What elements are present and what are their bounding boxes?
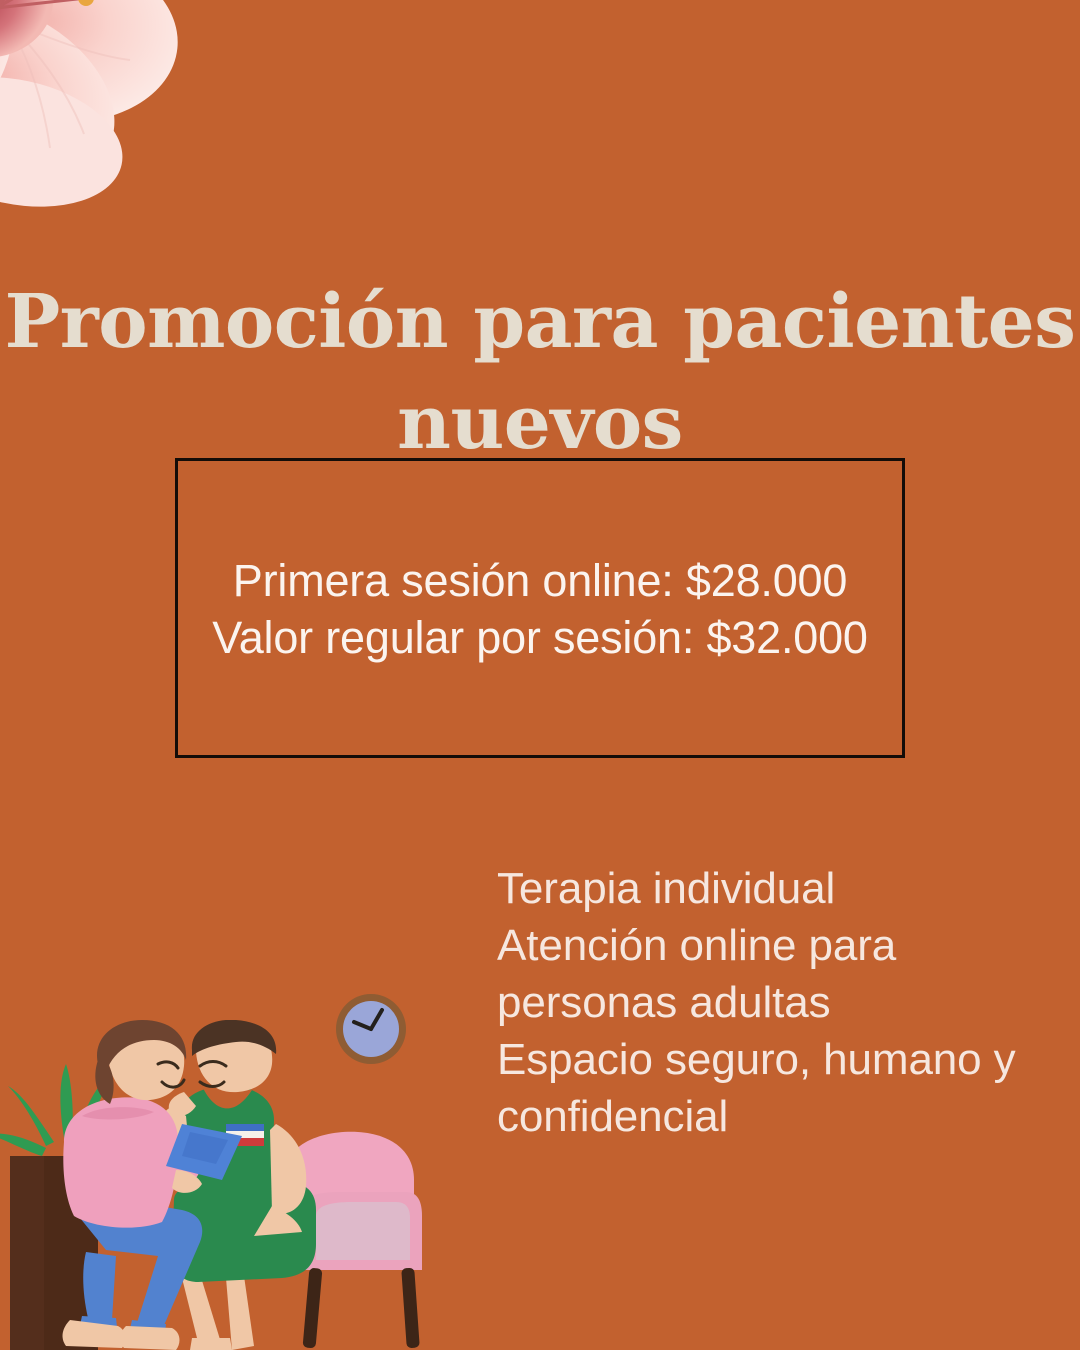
therapy-session-illustration — [0, 1020, 446, 1350]
promotional-poster: Promoción para pacientes nuevos Primera … — [0, 0, 1080, 1350]
cherry-blossom-decoration — [0, 0, 212, 218]
services-text: Terapia individual Atención online para … — [497, 860, 1017, 1145]
page-title: Promoción para pacientes nuevos — [0, 272, 1080, 474]
price-text: Primera sesión online: $28.000 Valor reg… — [175, 552, 905, 666]
